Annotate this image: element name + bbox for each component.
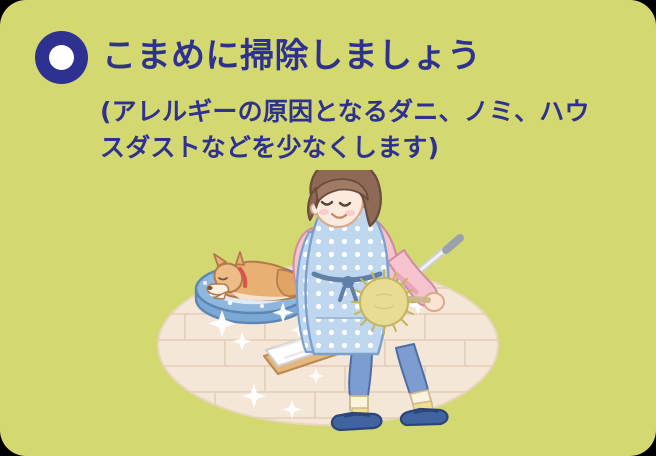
filled-circle-bullet-icon bbox=[35, 31, 88, 84]
subtitle: (アレルギーの原因となるダニ、ノミ、ハウ スダストなどを少なくします) bbox=[100, 94, 620, 166]
subtitle-line-2: スダストなどを少なくします) bbox=[100, 130, 620, 166]
illustration-woman-mopping-floor bbox=[0, 170, 656, 456]
page-title: こまめに掃除しましょう bbox=[102, 31, 622, 81]
woman-head bbox=[308, 170, 381, 227]
heading-row: こまめに掃除しましょう bbox=[0, 0, 656, 96]
bullet-inner-dot bbox=[49, 45, 74, 70]
subtitle-line-1: (アレルギーの原因となるダニ、ノミ、ハウ bbox=[100, 94, 620, 130]
info-card: こまめに掃除しましょう (アレルギーの原因となるダニ、ノミ、ハウ スダストなどを… bbox=[0, 0, 656, 456]
